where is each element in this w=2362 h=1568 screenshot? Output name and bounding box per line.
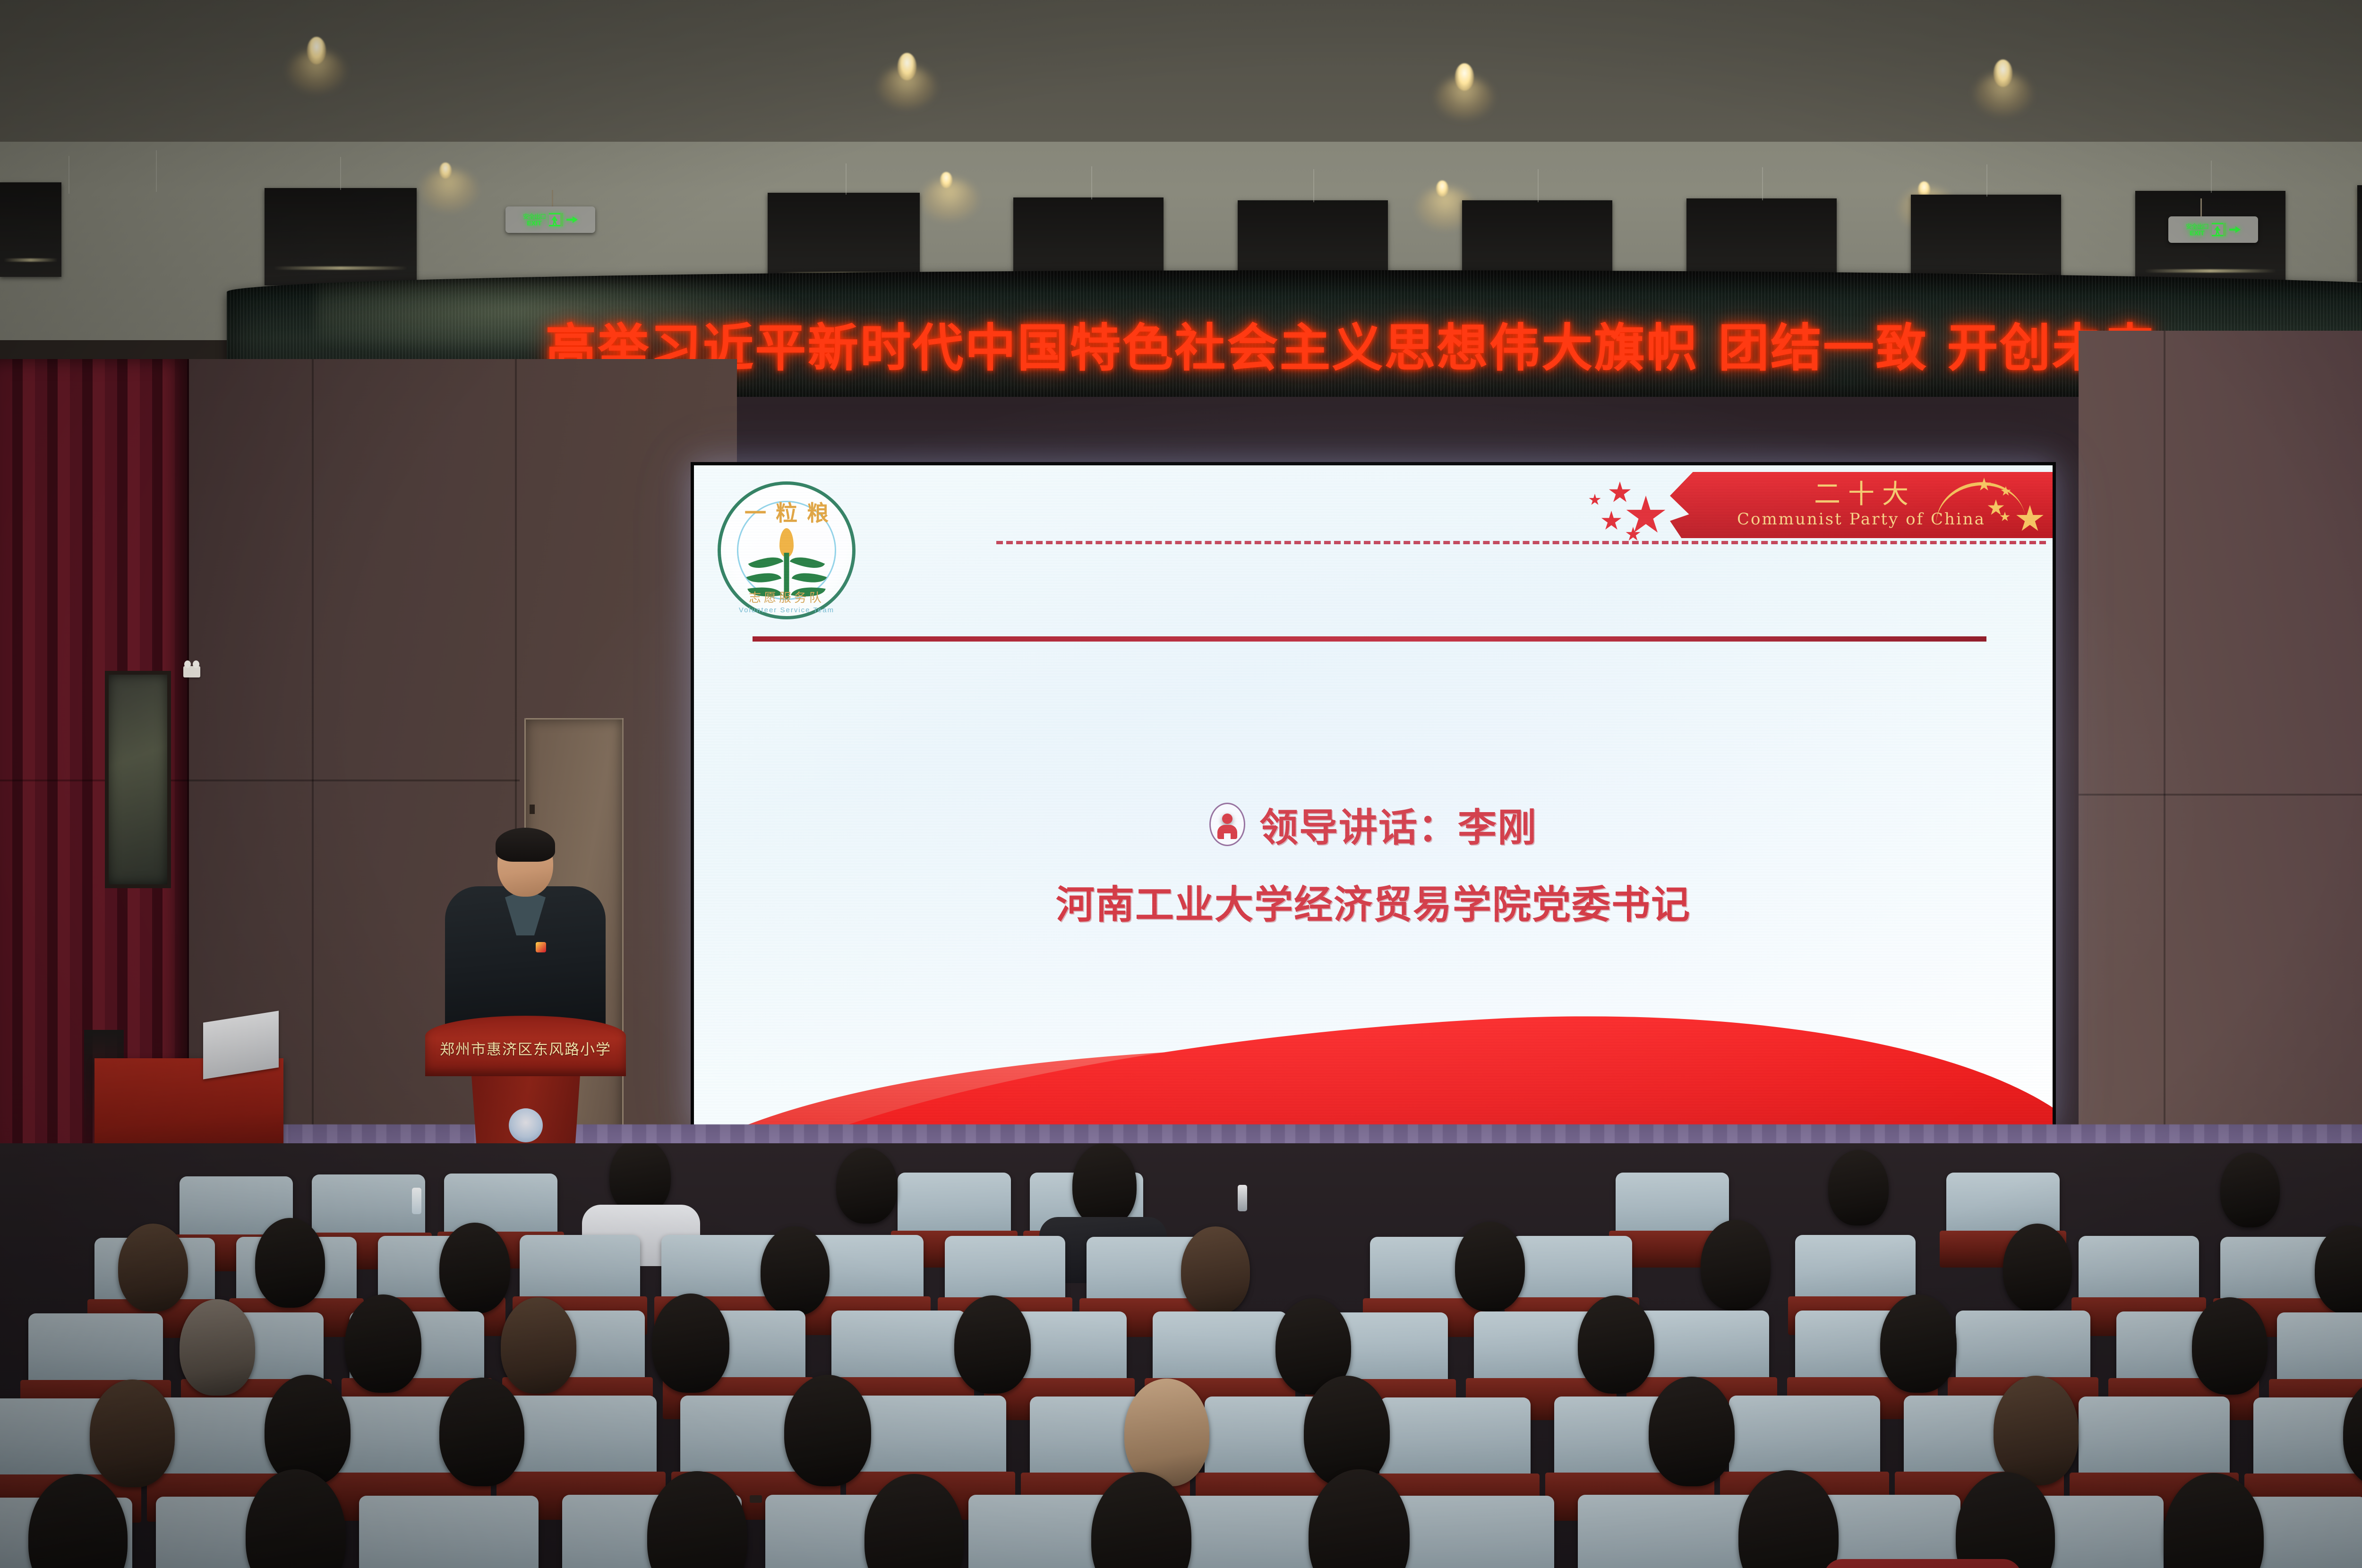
audience-head [118,1224,188,1311]
exit-label-en: EXIT [527,220,541,226]
audience-head [784,1375,871,1486]
audience-head [1181,1226,1250,1314]
downlight-spill [1436,77,1493,118]
control-room-window [105,671,171,888]
star-icon [1601,511,1622,531]
exit-sign-text: 安全出口 EXIT [523,214,546,226]
star-icon [1589,494,1601,506]
leaf-icon [790,550,825,575]
audience-head [1124,1379,1209,1486]
slide-headline: 领导讲话：李刚 [1259,796,1537,852]
seat[interactable] [898,1173,1011,1243]
leaf-icon [792,567,827,589]
logo-top-text: 一粒粮 [721,496,852,527]
wall-seam [312,359,314,1162]
audience-head [90,1379,175,1487]
audience-head [2003,1224,2072,1312]
audience-head [180,1299,255,1396]
downlight-spill [879,67,935,108]
audience-head [345,1294,421,1393]
exit-sign-rod [552,190,553,208]
emergency-light [183,666,200,677]
exit-sign-left: 安全出口 EXIT [505,206,595,233]
cpc-red-ribbon: 二十大 Communist Party of China [1670,472,2053,538]
door-hinge [530,805,535,814]
exit-label-cn: 安全出口 [2186,223,2208,230]
panel-wire [156,150,157,192]
audience-head [1994,1376,2079,1485]
downlight-spill [420,170,477,211]
exit-sign-text: 安全出口 EXIT [2186,223,2208,236]
panel-wire [846,163,847,195]
party-emblem-pin [536,942,546,952]
doorframe-icon [560,213,563,226]
panel-wire [1762,167,1763,200]
podium-seal-emblem [509,1108,543,1142]
audience-head [954,1295,1031,1394]
water-bottle[interactable] [1238,1185,1247,1211]
running-person-icon [549,213,563,226]
red-rule-divider [753,636,1986,642]
speaker-person [436,831,615,1029]
cpc-chinese-label: 二十大 [1806,481,1916,508]
wall-seam [515,359,517,888]
seat[interactable] [2079,1236,2199,1311]
audience-shoulders [1823,1559,2022,1568]
audience-head [2192,1297,2268,1395]
water-bottle[interactable] [412,1188,421,1214]
seat[interactable] [2277,1312,2362,1394]
audience-head [1701,1220,1771,1311]
panel-wire [1313,169,1314,202]
audience-head [609,1143,671,1214]
ceiling-acoustic-panel [0,182,61,277]
downlight-spill [1975,74,2031,114]
audience-head [265,1375,351,1485]
cpc-congress-banner: 二十大 Communist Party of China [1580,472,2053,543]
audience-head [761,1226,830,1315]
seat[interactable] [1379,1397,1531,1490]
audience-head [439,1378,524,1486]
red-stars-group [1580,477,1689,543]
seat[interactable] [359,1496,539,1568]
star-icon [1626,496,1666,536]
audience-head [439,1223,510,1313]
leaf-icon [746,567,782,589]
stage-side-table [94,1058,283,1157]
speaker-hair [496,828,555,862]
downlight-spill [288,51,345,92]
seat[interactable] [831,1311,966,1392]
presentation-slide: 一粒粮 志愿服务队 Volunteer Service Team [694,465,2053,1130]
person-glyph [2215,226,2220,236]
person-body-glyph [1217,825,1237,839]
person-icon [1209,803,1245,846]
audience-head [1072,1143,1137,1226]
arrow-right-icon [2229,226,2241,233]
headline-row: 领导讲话：李刚 [694,796,2053,852]
star-icon [1609,481,1631,504]
logo-english-text: Volunteer Service Team [721,606,852,614]
audience-head [836,1148,898,1224]
audience-head [2220,1153,2280,1227]
audience-head [1649,1377,1735,1486]
audience-head [1578,1295,1654,1394]
panel-wire [1538,169,1539,202]
arrow-right-icon [566,216,578,223]
panel-wire [1091,166,1092,199]
seat[interactable] [855,1396,1006,1488]
ceiling-acoustic-panel [2357,185,2362,282]
exit-label-cn: 安全出口 [523,214,546,220]
dashed-divider [996,541,2046,544]
doorframe-icon [2223,223,2226,236]
school-volunteer-logo: 一粒粮 志愿服务队 Volunteer Service Team [718,481,856,619]
exit-sign-right: 安全出口 EXIT [2168,216,2258,243]
red-silk-ribbon [694,988,2053,1130]
slide-subheadline: 河南工业大学经济贸易学院党委书记 [694,873,2053,929]
exit-sign-rod [2200,198,2202,216]
audience-head [1828,1150,1889,1225]
panel-wire [340,157,341,190]
wall-seam [0,780,520,781]
audience-head [501,1297,576,1394]
audience-head [652,1294,729,1393]
wall-seam [2079,794,2362,796]
leaf-icon [748,550,784,575]
person-glyph [552,216,557,226]
logo-bottom-text: 志愿服务队 [721,588,852,606]
slide-body: 领导讲话：李刚 河南工业大学经济贸易学院党委书记 [694,796,2053,929]
seat-tab [750,1495,762,1503]
panel-wire [2211,161,2212,193]
audience-area [0,1143,2362,1568]
seat[interactable] [1578,1495,1757,1568]
laptop[interactable] [203,1011,279,1079]
podium-school-name: 郑州市惠济区东风路小学 [425,1037,626,1059]
audience-head [255,1218,325,1308]
panel-wire [1986,164,1987,197]
seat[interactable] [1795,1235,1916,1310]
audience-head [1304,1376,1390,1486]
projection-screen: 一粒粮 志愿服务队 Volunteer Service Team [691,462,2056,1133]
panel-wire [68,156,69,194]
auditorium-scene: 安全出口 EXIT 安全出口 EXIT 高举习近平新时代中国特色社会主义思想伟大… [0,0,2362,1568]
seat[interactable] [312,1174,425,1245]
exit-label-en: EXIT [2190,230,2204,236]
seat[interactable] [505,1396,657,1488]
audience-head [1455,1222,1525,1311]
wall-seam [2164,331,2165,1162]
audience-head [1880,1294,1957,1393]
downlight-spill [921,180,978,220]
cpc-english-label: Communist Party of China [1737,510,1985,529]
person-head-glyph [1222,814,1232,824]
running-person-icon [2212,223,2226,236]
